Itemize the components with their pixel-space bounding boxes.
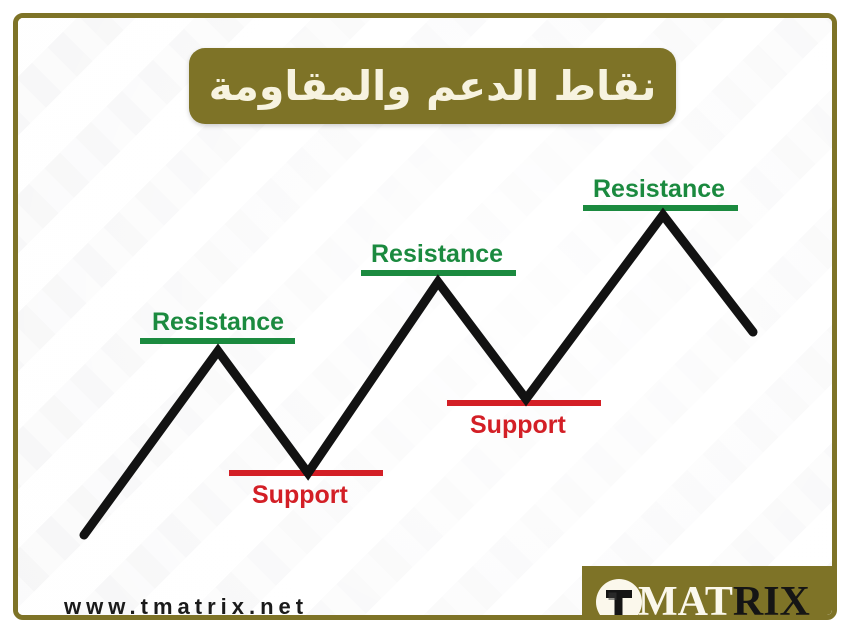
brand-name-dark: RIX (733, 579, 810, 620)
t-logo-icon (596, 579, 642, 620)
support-label: Support (470, 413, 566, 438)
brand-name: MATRIX (638, 581, 810, 620)
title-banner: نقاط الدعم والمقاومة (189, 48, 676, 124)
content-frame: ResistanceResistanceResistanceSupportSup… (13, 13, 837, 620)
resistance-label: Resistance (152, 310, 284, 335)
resistance-label: Resistance (371, 242, 503, 267)
brand-name-light: MAT (638, 579, 733, 620)
page-title: نقاط الدعم والمقاومة (209, 66, 657, 107)
support-label: Support (252, 483, 348, 508)
resistance-label: Resistance (593, 177, 725, 202)
brand-logo[interactable]: MATRIX (582, 566, 837, 620)
site-url[interactable]: www.tmatrix.net (64, 594, 308, 620)
infographic-canvas: ResistanceResistanceResistanceSupportSup… (0, 0, 850, 633)
